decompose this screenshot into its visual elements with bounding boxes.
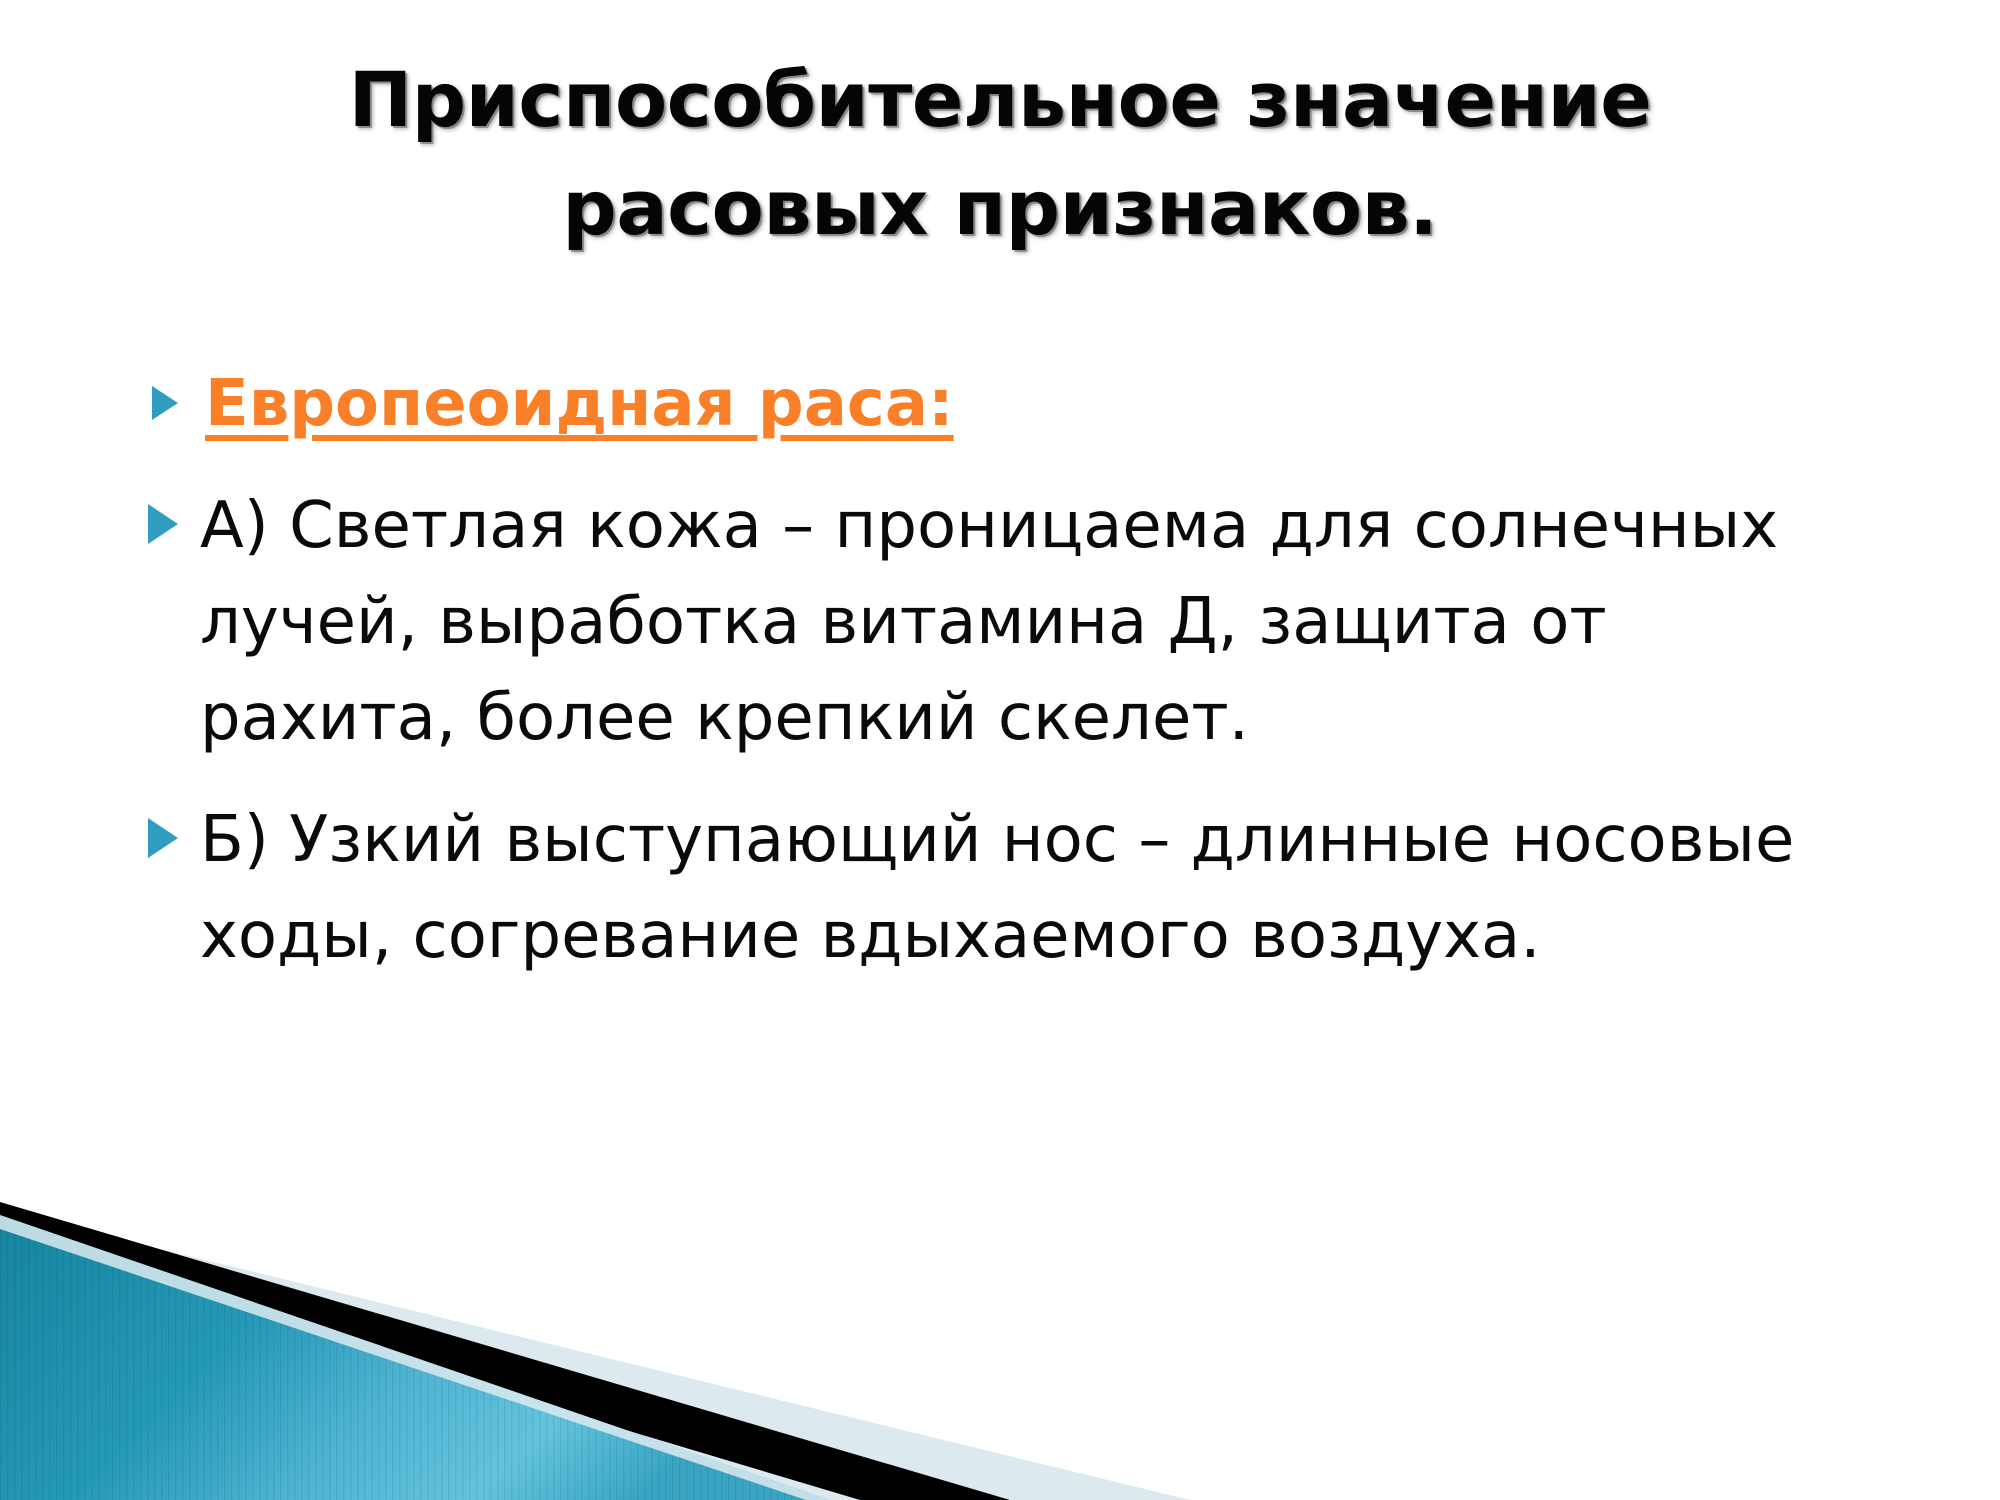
corner-banner-svg <box>0 1080 2000 1500</box>
list-item-a-label: А) Светлая кожа – проницаема для солнечн… <box>200 489 1778 755</box>
title-line-1: Приспособительное значение <box>120 46 1880 154</box>
black-diagonal-stripe <box>0 1202 1010 1500</box>
heading-label: Европеоидная раса: <box>205 367 954 441</box>
title-line-2: расовых признаков. <box>120 154 1880 262</box>
pale-blue-band <box>0 1210 1190 1500</box>
teal-gradient-wedge <box>0 1215 830 1500</box>
triangle-right-icon <box>148 818 178 858</box>
triangle-right-icon <box>148 504 178 544</box>
teal-wedge-texture <box>0 1215 830 1500</box>
list-item-b: Б) Узкий выступающий нос – длинные носов… <box>0 792 1880 984</box>
page-title: Приспособительное значение расовых призн… <box>120 46 1880 262</box>
slide-canvas: Приспособительное значение расовых призн… <box>0 0 2000 1500</box>
list-item-b-label: Б) Узкий выступающий нос – длинные носов… <box>200 803 1794 973</box>
corner-banner-decoration <box>0 1080 2000 1500</box>
content-body: Европеоидная раса: А) Светлая кожа – про… <box>0 356 1880 984</box>
teal-wedge-highlight <box>0 1215 830 1500</box>
triangle-right-icon <box>152 386 178 420</box>
list-item-heading: Европеоидная раса: <box>0 356 1880 452</box>
list-item-a: А) Светлая кожа – проницаема для солнечн… <box>0 478 1880 766</box>
